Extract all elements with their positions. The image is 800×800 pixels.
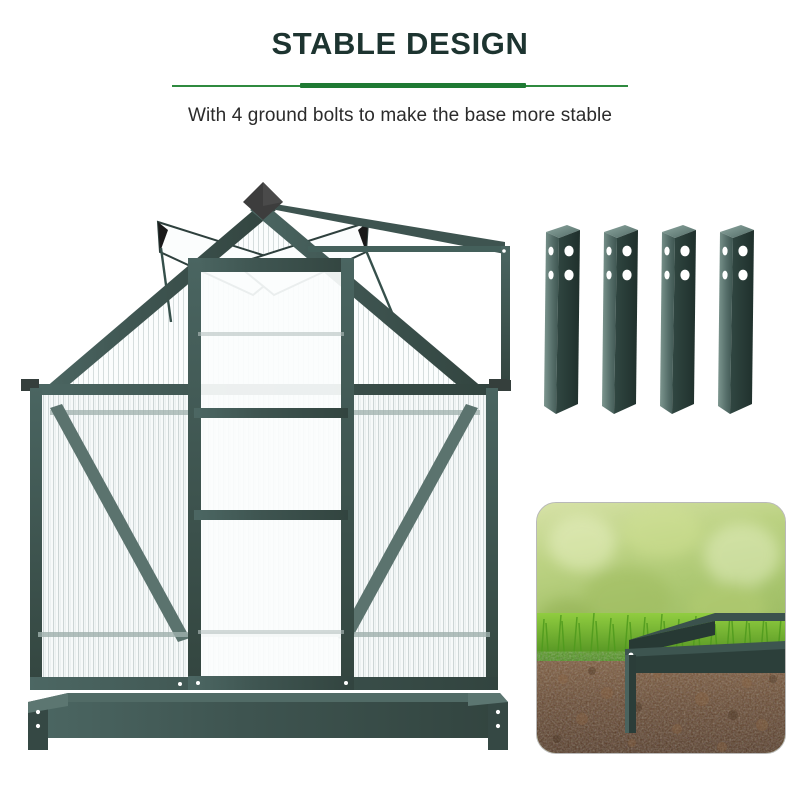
title-divider <box>172 81 628 91</box>
photo-soil-section <box>537 661 785 753</box>
divider-thick-line <box>300 83 526 88</box>
greenhouse-illustration <box>8 172 520 752</box>
inset-photo-soil-anchor <box>536 502 786 754</box>
page-subtitle: With 4 ground bolts to make the base mor… <box>0 105 800 127</box>
ground-bolt-4 <box>718 225 754 414</box>
ground-bolt-1 <box>544 225 580 414</box>
door-crossbar-mid <box>194 510 348 520</box>
header: STABLE DESIGN With 4 ground bolts to mak… <box>0 0 800 127</box>
front-door[interactable] <box>188 258 354 690</box>
base-foundation-beam <box>28 693 508 750</box>
page-title: STABLE DESIGN <box>0 28 800 59</box>
product-feature-page: STABLE DESIGN With 4 ground bolts to mak… <box>0 0 800 800</box>
door-crossbar-top <box>194 408 348 418</box>
ground-bolts-group <box>534 218 774 418</box>
ground-bolt-3 <box>660 225 696 414</box>
ground-bolt-2 <box>602 225 638 414</box>
